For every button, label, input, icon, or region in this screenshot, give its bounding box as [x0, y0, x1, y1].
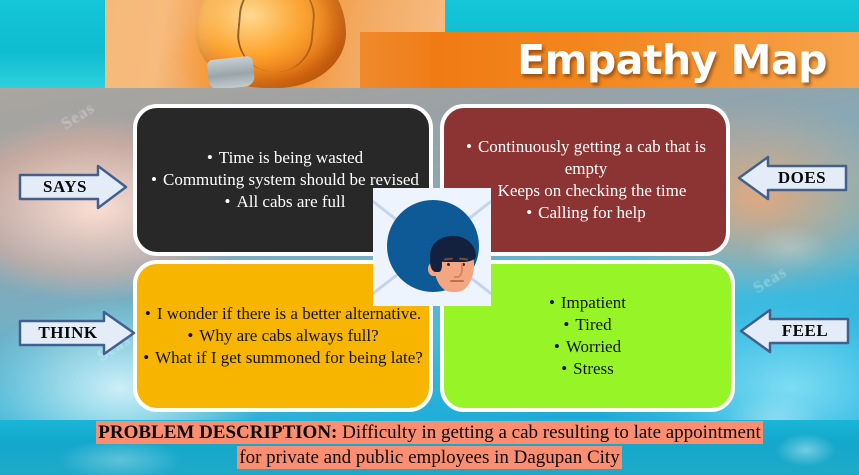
list-item-text: Commuting system should be revised [163, 170, 419, 189]
empathy-map-slide: Empathy Map Seas ces Seas Seas •Time is … [0, 0, 859, 475]
list-item-text: Worried [566, 337, 621, 356]
bullet-icon: • [549, 292, 555, 314]
page-title: Empathy Map [430, 33, 845, 87]
bullet-icon: • [466, 136, 472, 158]
list-item-text: Calling for help [538, 203, 646, 222]
list-item-text: Time is being wasted [219, 148, 363, 167]
bullet-icon: • [225, 191, 231, 213]
problem-description-line-2: for private and public employees in Dagu… [0, 447, 859, 469]
problem-description-line-1: PROBLEM DESCRIPTION: Difficulty in getti… [0, 422, 859, 444]
user-face-icon [428, 236, 478, 294]
list-item-text: Keeps on checking the time [498, 181, 687, 200]
list-item: •Tired [444, 314, 731, 336]
lightbulb-base-icon [207, 56, 256, 88]
problem-description-text-2: for private and public employees in Dagu… [237, 446, 621, 469]
bullet-icon: • [145, 303, 151, 325]
bullet-icon: • [554, 336, 560, 358]
list-item-text: Stress [573, 359, 614, 378]
avatar-circle [387, 200, 479, 292]
watermark: Seas [57, 98, 98, 134]
list-item: •Continuously getting a cab that is empt… [446, 136, 726, 180]
list-item-text: Impatient [561, 293, 626, 312]
bullet-icon: • [207, 147, 213, 169]
think-list: •I wonder if there is a better alternati… [137, 303, 429, 369]
eye-left [447, 263, 450, 266]
bullet-icon: • [561, 358, 567, 380]
list-item: •Time is being wasted [141, 147, 429, 169]
problem-description-text: Difficulty in getting a cab resulting to… [337, 422, 760, 443]
list-item: •Stress [444, 358, 731, 380]
arrow-text: THINK [38, 323, 97, 343]
arrow-text: DOES [778, 168, 826, 188]
mouth-shape [450, 280, 464, 282]
bullet-icon: • [187, 325, 193, 347]
arrow-label-think[interactable]: THINK [18, 310, 136, 356]
list-item: •Why are cabs always full? [137, 325, 429, 347]
bullet-icon: • [143, 347, 149, 369]
arrow-text: SAYS [43, 177, 87, 197]
list-item-text: I wonder if there is a better alternativ… [157, 304, 421, 323]
bullet-icon: • [563, 314, 569, 336]
watermark: Seas [749, 262, 790, 298]
arrow-label-does[interactable]: DOES [736, 155, 848, 201]
slide-header: Empathy Map [0, 0, 859, 88]
list-item-text: Tired [575, 315, 611, 334]
list-item-text: What if I get summoned for being late? [155, 348, 423, 367]
list-item-text: All cabs are full [236, 192, 345, 211]
arrow-text: FEEL [782, 321, 828, 341]
list-item: •I wonder if there is a better alternati… [137, 303, 429, 325]
avatar [373, 188, 491, 306]
problem-description-label: PROBLEM DESCRIPTION: [98, 422, 337, 443]
hair-side-shape [430, 248, 442, 272]
arrow-label-says[interactable]: SAYS [18, 164, 128, 210]
arrow-label-feel[interactable]: FEEL [738, 308, 850, 354]
bullet-icon: • [526, 202, 532, 224]
list-item-text: Why are cabs always full? [199, 326, 378, 345]
bullet-icon: • [151, 169, 157, 191]
list-item-text: Continuously getting a cab that is empty [478, 137, 706, 178]
list-item: •What if I get summoned for being late? [137, 347, 429, 369]
list-item: •Worried [444, 336, 731, 358]
